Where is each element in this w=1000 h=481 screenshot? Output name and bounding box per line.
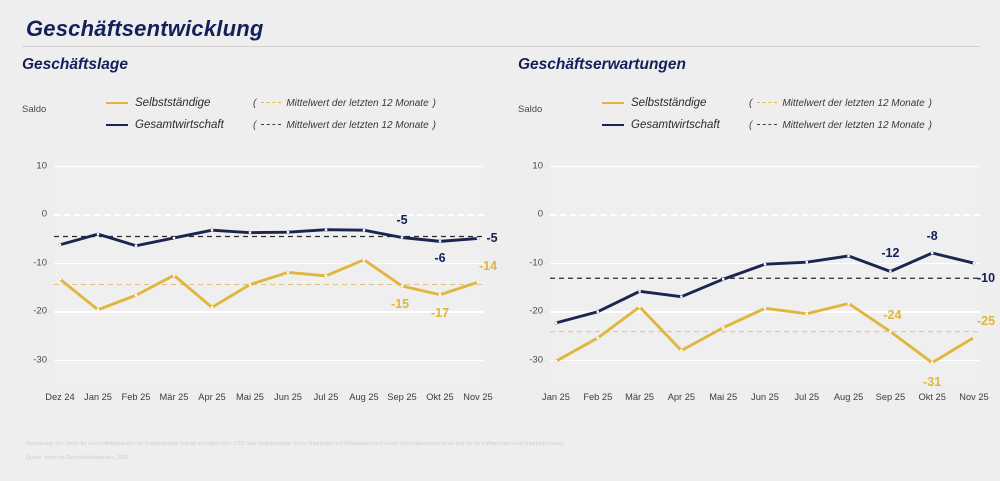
data-point-marker bbox=[597, 337, 599, 339]
paren-open: ( bbox=[253, 98, 256, 109]
data-point-marker bbox=[931, 252, 933, 254]
legend-item-gesamtwirtschaft[interactable]: Gesamtwirtschaft ( Mittelwert der letzte… bbox=[602, 114, 932, 136]
y-axis-tick-label: -10 bbox=[33, 257, 47, 268]
mean-text: Mittelwert der letzten 12 Monate bbox=[782, 98, 924, 109]
y-axis-tick-label: 0 bbox=[538, 209, 543, 220]
data-point-label: -12 bbox=[881, 246, 899, 260]
title-divider bbox=[22, 46, 980, 47]
data-point-marker bbox=[59, 244, 61, 246]
legend-label: Selbstständige bbox=[631, 97, 749, 109]
x-axis-tick-label: Mär 25 bbox=[625, 392, 654, 402]
data-point-marker bbox=[722, 278, 724, 280]
data-point-marker bbox=[363, 259, 365, 261]
x-axis-tick-label: Mär 25 bbox=[160, 392, 189, 402]
x-axis-tick-label: Feb 25 bbox=[583, 392, 612, 402]
x-axis-tick-label: Feb 25 bbox=[122, 392, 151, 402]
x-axis-tick-label: Apr 25 bbox=[198, 392, 225, 402]
x-axis-tick-label: Mai 25 bbox=[236, 392, 264, 402]
data-point-label: -5 bbox=[486, 231, 497, 245]
y-axis-tick-label: -30 bbox=[33, 354, 47, 365]
data-point-marker bbox=[173, 274, 175, 276]
report-page: Geschäftsentwicklung Geschäftslage Saldo… bbox=[0, 0, 1000, 481]
data-point-label: -6 bbox=[434, 251, 445, 265]
data-point-marker bbox=[806, 312, 808, 314]
legend-mean-note: ( Mittelwert der letzten 12 Monate ) bbox=[253, 98, 436, 109]
data-point-marker bbox=[401, 236, 403, 238]
data-point-marker bbox=[638, 290, 640, 292]
x-axis-tick-label: Jan 25 bbox=[542, 392, 570, 402]
legend-line-swatch-gold-icon bbox=[106, 102, 128, 104]
paren-close: ) bbox=[929, 98, 932, 109]
data-point-marker bbox=[287, 271, 289, 273]
x-axis-tick-label: Apr 25 bbox=[668, 392, 695, 402]
series-line bbox=[556, 303, 974, 362]
chart-legend: Selbstständige ( Mittelwert der letzten … bbox=[602, 92, 932, 136]
data-point-marker bbox=[211, 306, 213, 308]
y-axis-tick-label: 10 bbox=[532, 160, 543, 171]
data-point-marker bbox=[97, 309, 99, 311]
data-point-marker bbox=[555, 360, 557, 362]
x-axis-tick-label: Mai 25 bbox=[709, 392, 737, 402]
data-point-label: -14 bbox=[479, 259, 497, 273]
data-point-marker bbox=[135, 294, 137, 296]
paren-close: ) bbox=[433, 98, 436, 109]
data-point-marker bbox=[638, 306, 640, 308]
chart-legend: Selbstständige ( Mittelwert der letzten … bbox=[106, 92, 436, 136]
data-point-marker bbox=[477, 281, 479, 283]
mean-text: Mittelwert der letzten 12 Monate bbox=[286, 98, 428, 109]
legend-item-gesamtwirtschaft[interactable]: Gesamtwirtschaft ( Mittelwert der letzte… bbox=[106, 114, 436, 136]
series-line bbox=[60, 230, 478, 246]
data-point-marker bbox=[680, 349, 682, 351]
data-point-label: -5 bbox=[396, 213, 407, 227]
y-axis-tick-label: -30 bbox=[529, 354, 543, 365]
x-axis-tick-label: Okt 25 bbox=[426, 392, 453, 402]
legend-label: Selbstständige bbox=[135, 97, 253, 109]
paren-open: ( bbox=[749, 98, 752, 109]
legend-line-swatch-navy-icon bbox=[602, 124, 624, 126]
chart-panel-geschaeftserwartungen: Geschäftserwartungen Saldo Selbstständig… bbox=[504, 52, 994, 470]
x-axis-tick-label: Jul 25 bbox=[794, 392, 819, 402]
data-point-marker bbox=[764, 263, 766, 265]
data-point-marker bbox=[59, 278, 61, 280]
footnote-source: Quelle: Jimdo-ifo Geschäftsklimaindex, 2… bbox=[26, 454, 566, 463]
paren-open: ( bbox=[749, 120, 752, 131]
x-axis-tick-label: Nov 25 bbox=[463, 392, 492, 402]
data-point-marker bbox=[135, 245, 137, 247]
dashed-line-navy-icon bbox=[757, 124, 777, 125]
dashed-line-gold-icon bbox=[261, 102, 281, 103]
data-point-label: -15 bbox=[391, 297, 409, 311]
y-axis-tick-label: 0 bbox=[42, 209, 47, 220]
legend-line-swatch-navy-icon bbox=[106, 124, 128, 126]
chart-title: Geschäftslage bbox=[22, 56, 128, 74]
y-axis-tick-label: -10 bbox=[529, 257, 543, 268]
y-axis-tick-label: -20 bbox=[33, 306, 47, 317]
data-point-marker bbox=[363, 229, 365, 231]
data-point-label: -31 bbox=[923, 375, 941, 389]
x-axis-tick-label: Aug 25 bbox=[349, 392, 378, 402]
data-point-marker bbox=[680, 295, 682, 297]
y-axis-title: Saldo bbox=[22, 104, 46, 115]
paren-close: ) bbox=[433, 120, 436, 131]
x-axis-tick-label: Sep 25 bbox=[387, 392, 416, 402]
data-point-label: -10 bbox=[977, 271, 995, 285]
y-axis-tick-label: 10 bbox=[36, 160, 47, 171]
series-lines bbox=[54, 156, 484, 384]
data-point-marker bbox=[211, 229, 213, 231]
mean-text: Mittelwert der letzten 12 Monate bbox=[286, 120, 428, 131]
page-title: Geschäftsentwicklung bbox=[26, 16, 264, 42]
data-point-marker bbox=[806, 261, 808, 263]
data-point-marker bbox=[249, 283, 251, 285]
x-axis-tick-label: Jun 25 bbox=[751, 392, 779, 402]
data-point-marker bbox=[722, 327, 724, 329]
plot-area: 100-10-20-30Dez 24Jan 25Feb 25Mär 25Apr … bbox=[54, 156, 484, 384]
x-axis-tick-label: Aug 25 bbox=[834, 392, 863, 402]
dashed-line-navy-icon bbox=[261, 124, 281, 125]
x-axis-tick-label: Nov 25 bbox=[959, 392, 988, 402]
data-point-label: -8 bbox=[927, 229, 938, 243]
paren-open: ( bbox=[253, 120, 256, 131]
y-axis-tick-label: -20 bbox=[529, 306, 543, 317]
paren-close: ) bbox=[929, 120, 932, 131]
series-lines bbox=[550, 156, 980, 384]
data-point-marker bbox=[847, 255, 849, 257]
dashed-line-gold-icon bbox=[757, 102, 777, 103]
data-point-marker bbox=[325, 229, 327, 231]
footnote-note: Anmerkung: Der Jimdo-ifo Geschäftsklimai… bbox=[26, 441, 565, 447]
y-axis-title: Saldo bbox=[518, 104, 542, 115]
data-point-marker bbox=[931, 361, 933, 363]
mean-text: Mittelwert der letzten 12 Monate bbox=[782, 120, 924, 131]
legend-item-selbststaendige[interactable]: Selbstständige ( Mittelwert der letzten … bbox=[602, 92, 932, 114]
legend-label: Gesamtwirtschaft bbox=[135, 119, 253, 131]
data-point-marker bbox=[325, 275, 327, 277]
legend-mean-note: ( Mittelwert der letzten 12 Monate ) bbox=[749, 98, 932, 109]
chart-panel-geschaeftslage: Geschäftslage Saldo Selbstständige ( Mit… bbox=[8, 52, 498, 470]
data-point-marker bbox=[597, 311, 599, 313]
data-point-marker bbox=[97, 233, 99, 235]
legend-mean-note: ( Mittelwert der letzten 12 Monate ) bbox=[253, 120, 436, 131]
data-point-marker bbox=[889, 270, 891, 272]
plot-area: 100-10-20-30Jan 25Feb 25Mär 25Apr 25Mai … bbox=[550, 156, 980, 384]
x-axis-tick-label: Sep 25 bbox=[876, 392, 905, 402]
data-point-marker bbox=[764, 307, 766, 309]
data-point-label: -24 bbox=[883, 308, 901, 322]
data-point-label: -17 bbox=[431, 306, 449, 320]
legend-mean-note: ( Mittelwert der letzten 12 Monate ) bbox=[749, 120, 932, 131]
x-axis-tick-label: Okt 25 bbox=[918, 392, 945, 402]
data-point-marker bbox=[847, 302, 849, 304]
data-point-marker bbox=[477, 237, 479, 239]
data-point-marker bbox=[173, 237, 175, 239]
x-axis-tick-label: Jun 25 bbox=[274, 392, 302, 402]
data-point-marker bbox=[439, 240, 441, 242]
legend-item-selbststaendige[interactable]: Selbstständige ( Mittelwert der letzten … bbox=[106, 92, 436, 114]
data-point-marker bbox=[889, 330, 891, 332]
x-axis-tick-label: Dez 24 bbox=[45, 392, 74, 402]
data-point-marker bbox=[555, 322, 557, 324]
x-axis-tick-label: Jan 25 bbox=[84, 392, 112, 402]
chart-title: Geschäftserwartungen bbox=[518, 56, 686, 74]
footnote: Anmerkung: Der Jimdo-ifo Geschäftsklimai… bbox=[26, 440, 566, 463]
data-point-marker bbox=[439, 294, 441, 296]
data-point-marker bbox=[249, 231, 251, 233]
x-axis-tick-label: Jul 25 bbox=[314, 392, 339, 402]
data-point-marker bbox=[287, 231, 289, 233]
data-point-marker bbox=[973, 336, 975, 338]
legend-label: Gesamtwirtschaft bbox=[631, 119, 749, 131]
data-point-marker bbox=[401, 285, 403, 287]
data-point-marker bbox=[973, 262, 975, 264]
data-point-label: -25 bbox=[977, 314, 995, 328]
legend-line-swatch-gold-icon bbox=[602, 102, 624, 104]
